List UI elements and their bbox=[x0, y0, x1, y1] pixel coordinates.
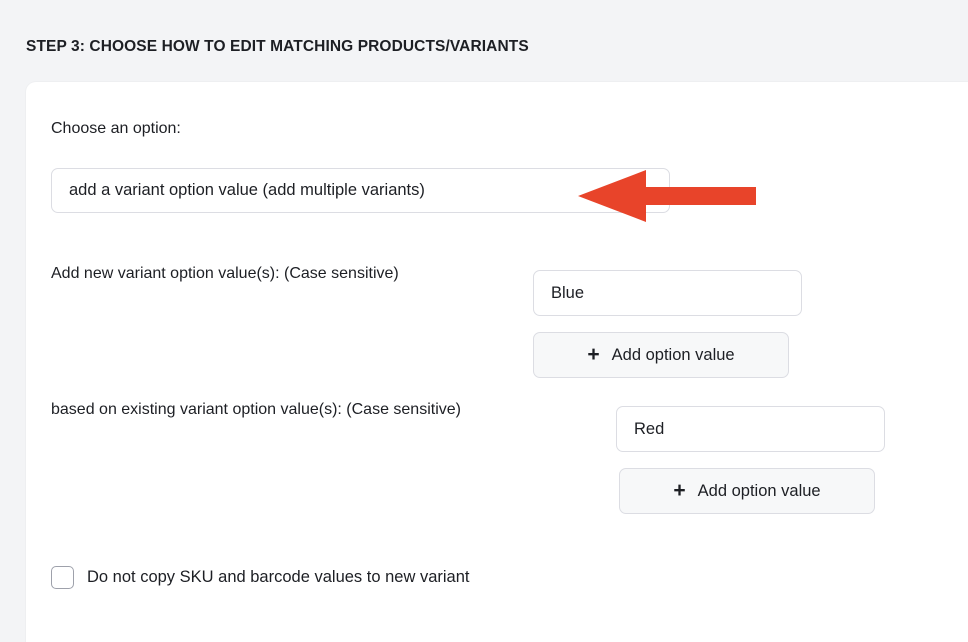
existing-option-value-input[interactable]: Red bbox=[616, 406, 885, 452]
add-option-value-button-new[interactable]: + Add option value bbox=[533, 332, 789, 378]
add-option-value-button-existing[interactable]: + Add option value bbox=[619, 468, 875, 514]
choose-option-label: Choose an option: bbox=[51, 121, 181, 137]
add-option-value-label-existing: Add option value bbox=[698, 482, 821, 501]
sku-checkbox[interactable] bbox=[51, 566, 74, 589]
page-background: STEP 3: CHOOSE HOW TO EDIT MATCHING PROD… bbox=[0, 0, 968, 636]
new-option-value-input[interactable]: Blue bbox=[533, 270, 802, 316]
add-option-value-label-new: Add option value bbox=[612, 346, 735, 365]
page-title: STEP 3: CHOOSE HOW TO EDIT MATCHING PROD… bbox=[26, 38, 529, 56]
existing-option-label: based on existing variant option value(s… bbox=[51, 402, 461, 418]
new-option-value-text: Blue bbox=[551, 271, 584, 315]
sku-checkbox-label: Do not copy SKU and barcode values to ne… bbox=[87, 568, 469, 587]
option-select[interactable]: add a variant option value (add multiple… bbox=[51, 168, 670, 213]
existing-option-value-text: Red bbox=[634, 407, 664, 451]
option-select-value: add a variant option value (add multiple… bbox=[69, 168, 425, 213]
add-new-option-label: Add new variant option value(s): (Case s… bbox=[51, 266, 399, 282]
step-card: Choose an option: add a variant option v… bbox=[26, 82, 968, 642]
plus-icon: + bbox=[587, 344, 599, 365]
sku-checkbox-row[interactable]: Do not copy SKU and barcode values to ne… bbox=[51, 566, 469, 589]
plus-icon: + bbox=[673, 480, 685, 501]
chevron-down-icon bbox=[643, 188, 654, 195]
